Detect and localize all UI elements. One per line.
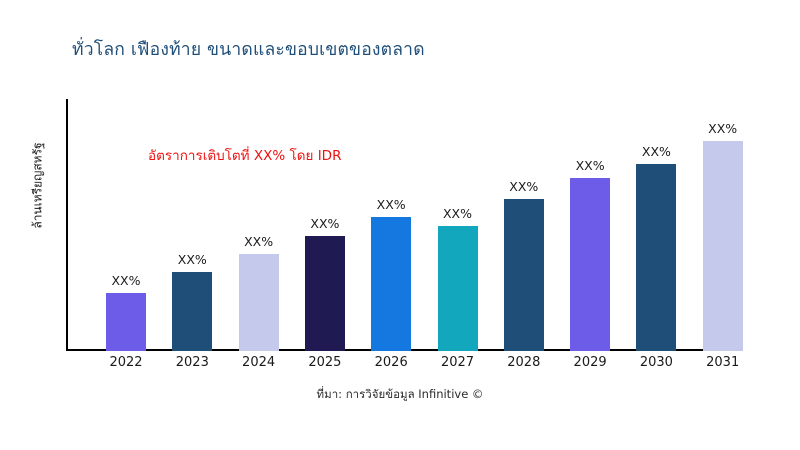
bar-value-label: XX% xyxy=(229,234,289,249)
x-axis-tick-2024: 2024 xyxy=(229,355,289,370)
y-axis-label-wrapper: ล้านเหรียญสหรัฐ xyxy=(26,100,50,270)
bar-value-label: XX% xyxy=(428,206,488,221)
source-note: ที่มา: การวิจัยข้อมูล Infinitive © xyxy=(0,386,800,404)
x-axis-tick-2026: 2026 xyxy=(361,355,421,370)
growth-rate-annotation: อัตราการเติบโตที่ XX% โดย IDR xyxy=(148,144,341,166)
bar-group: XX% xyxy=(305,60,345,351)
bar[interactable] xyxy=(636,164,676,351)
bar[interactable] xyxy=(305,236,345,352)
bar-group: XX% xyxy=(570,60,610,351)
x-axis-tick-labels: 2022202320242025202620272028202920302031 xyxy=(66,355,800,377)
bar-group: XX% xyxy=(172,60,212,351)
bar[interactable] xyxy=(172,272,212,351)
x-axis-tick-2022: 2022 xyxy=(96,355,156,370)
bar[interactable] xyxy=(239,254,279,351)
bar-series: XX%XX%XX%XX%XX%XX%XX%XX%XX%XX% xyxy=(66,60,800,351)
bar[interactable] xyxy=(703,141,743,351)
bar-value-label: XX% xyxy=(295,216,355,231)
bar-group: XX% xyxy=(371,60,411,351)
bar-group: XX% xyxy=(636,60,676,351)
bar[interactable] xyxy=(504,199,544,351)
bar-group: XX% xyxy=(239,60,279,351)
x-axis-tick-2023: 2023 xyxy=(162,355,222,370)
x-axis-tick-2029: 2029 xyxy=(560,355,620,370)
y-axis-label: ล้านเหรียญสหรัฐ xyxy=(29,142,48,228)
bar[interactable] xyxy=(371,217,411,351)
x-axis-tick-2031: 2031 xyxy=(693,355,753,370)
chart-container: ทั่วโลก เฟืองท้าย ขนาดและขอบเขตของตลาด ล… xyxy=(0,0,800,450)
bar-group: XX% xyxy=(703,60,743,351)
bar[interactable] xyxy=(570,178,610,351)
bar[interactable] xyxy=(438,226,478,351)
bar-value-label: XX% xyxy=(560,158,620,173)
x-axis-tick-2025: 2025 xyxy=(295,355,355,370)
bar-group: XX% xyxy=(106,60,146,351)
x-axis-tick-2028: 2028 xyxy=(494,355,554,370)
bar-value-label: XX% xyxy=(96,273,156,288)
bar-value-label: XX% xyxy=(162,252,222,267)
bar-value-label: XX% xyxy=(494,179,554,194)
bar-value-label: XX% xyxy=(693,121,753,136)
x-axis-tick-2027: 2027 xyxy=(428,355,488,370)
bar-value-label: XX% xyxy=(361,197,421,212)
bar-group: XX% xyxy=(504,60,544,351)
bar[interactable] xyxy=(106,293,146,351)
bar-group: XX% xyxy=(438,60,478,351)
x-axis-tick-2030: 2030 xyxy=(626,355,686,370)
bar-value-label: XX% xyxy=(626,144,686,159)
chart-title: ทั่วโลก เฟืองท้าย ขนาดและขอบเขตของตลาด xyxy=(72,40,425,61)
